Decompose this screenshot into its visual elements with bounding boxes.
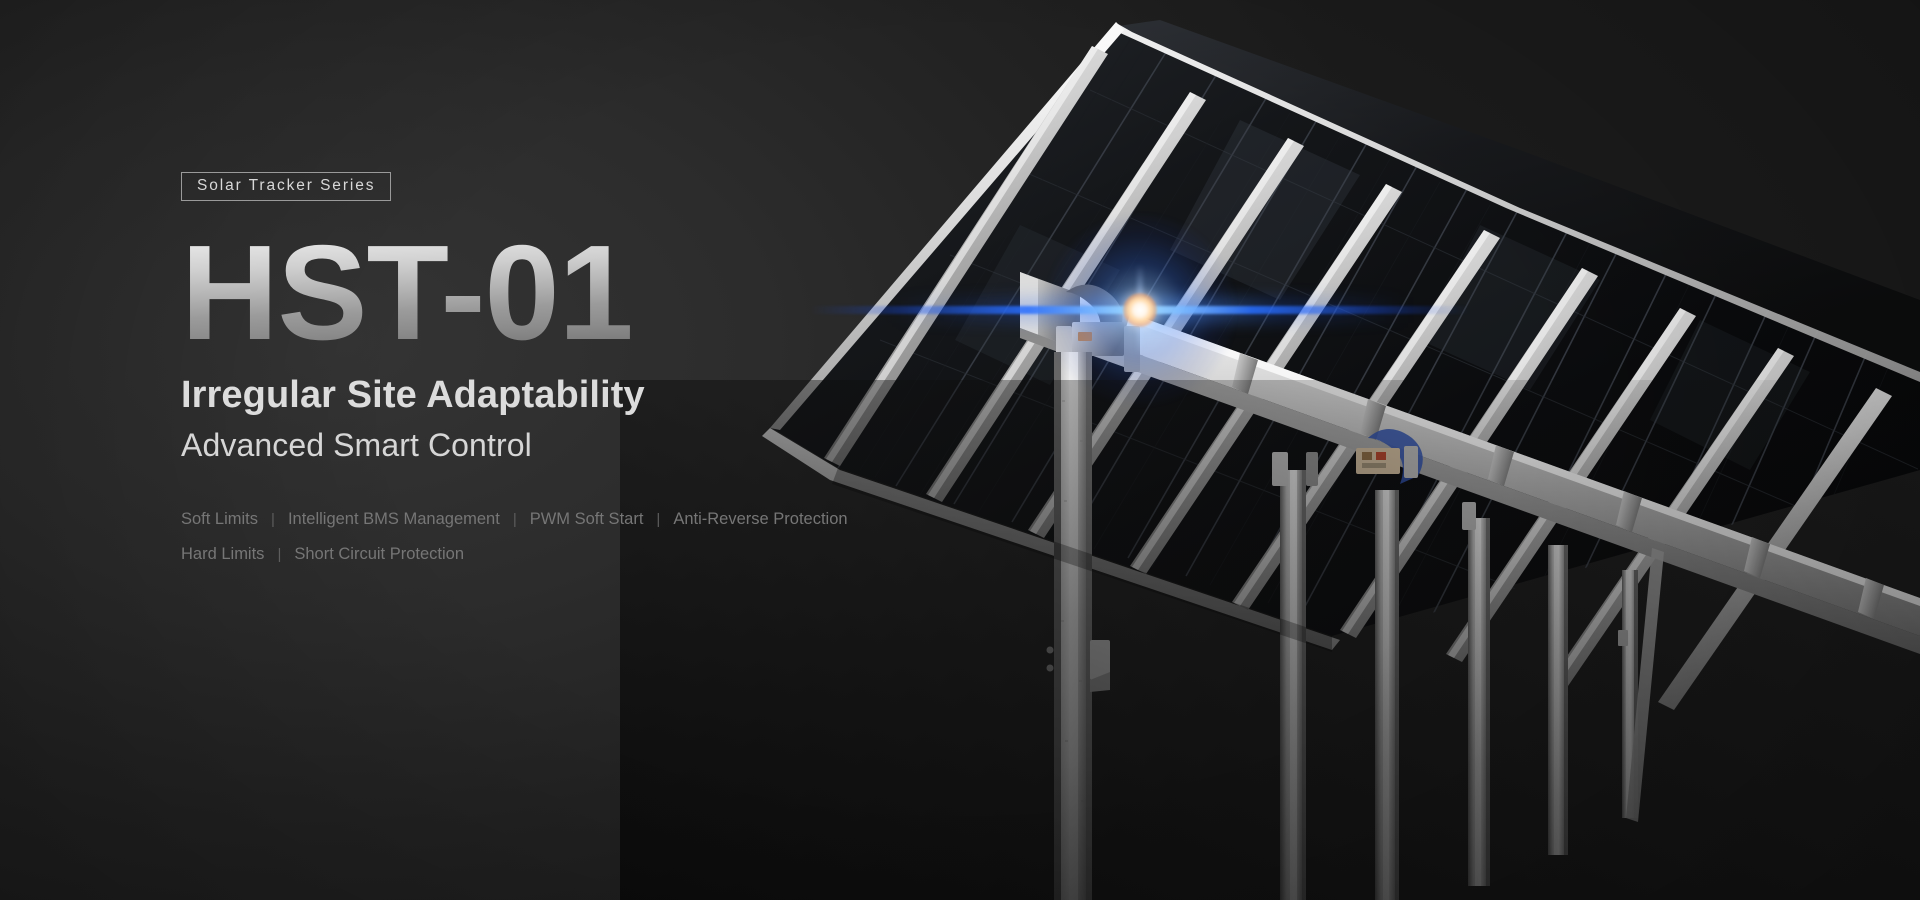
post-5: [1548, 545, 1568, 855]
feature-item: Intelligent BMS Management: [288, 511, 500, 528]
hero-banner: Solar Tracker Series HST-01 Irregular Si…: [0, 0, 1920, 900]
feature-item: Soft Limits: [181, 511, 258, 528]
feature-item: PWM Soft Start: [530, 511, 644, 528]
feature-item: Hard Limits: [181, 546, 264, 563]
feature-row: Hard Limits|Short Circuit Protection: [181, 546, 1001, 563]
feature-list: Soft Limits|Intelligent BMS Management|P…: [181, 511, 1001, 563]
hero-copy: Solar Tracker Series HST-01 Irregular Si…: [181, 172, 1001, 582]
feature-separator: |: [643, 512, 673, 527]
feature-item: Anti-Reverse Protection: [673, 511, 847, 528]
product-model-title: HST-01: [181, 228, 633, 359]
hero-subtagline: Advanced Smart Control: [181, 427, 1001, 464]
feature-separator: |: [258, 512, 288, 527]
feature-separator: |: [264, 547, 294, 562]
hero-tagline: Irregular Site Adaptability: [181, 374, 1001, 417]
feature-separator: |: [500, 512, 530, 527]
feature-item: Short Circuit Protection: [294, 546, 464, 563]
post-3: [1375, 490, 1399, 900]
feature-row: Soft Limits|Intelligent BMS Management|P…: [181, 511, 1001, 528]
series-badge: Solar Tracker Series: [181, 172, 391, 201]
